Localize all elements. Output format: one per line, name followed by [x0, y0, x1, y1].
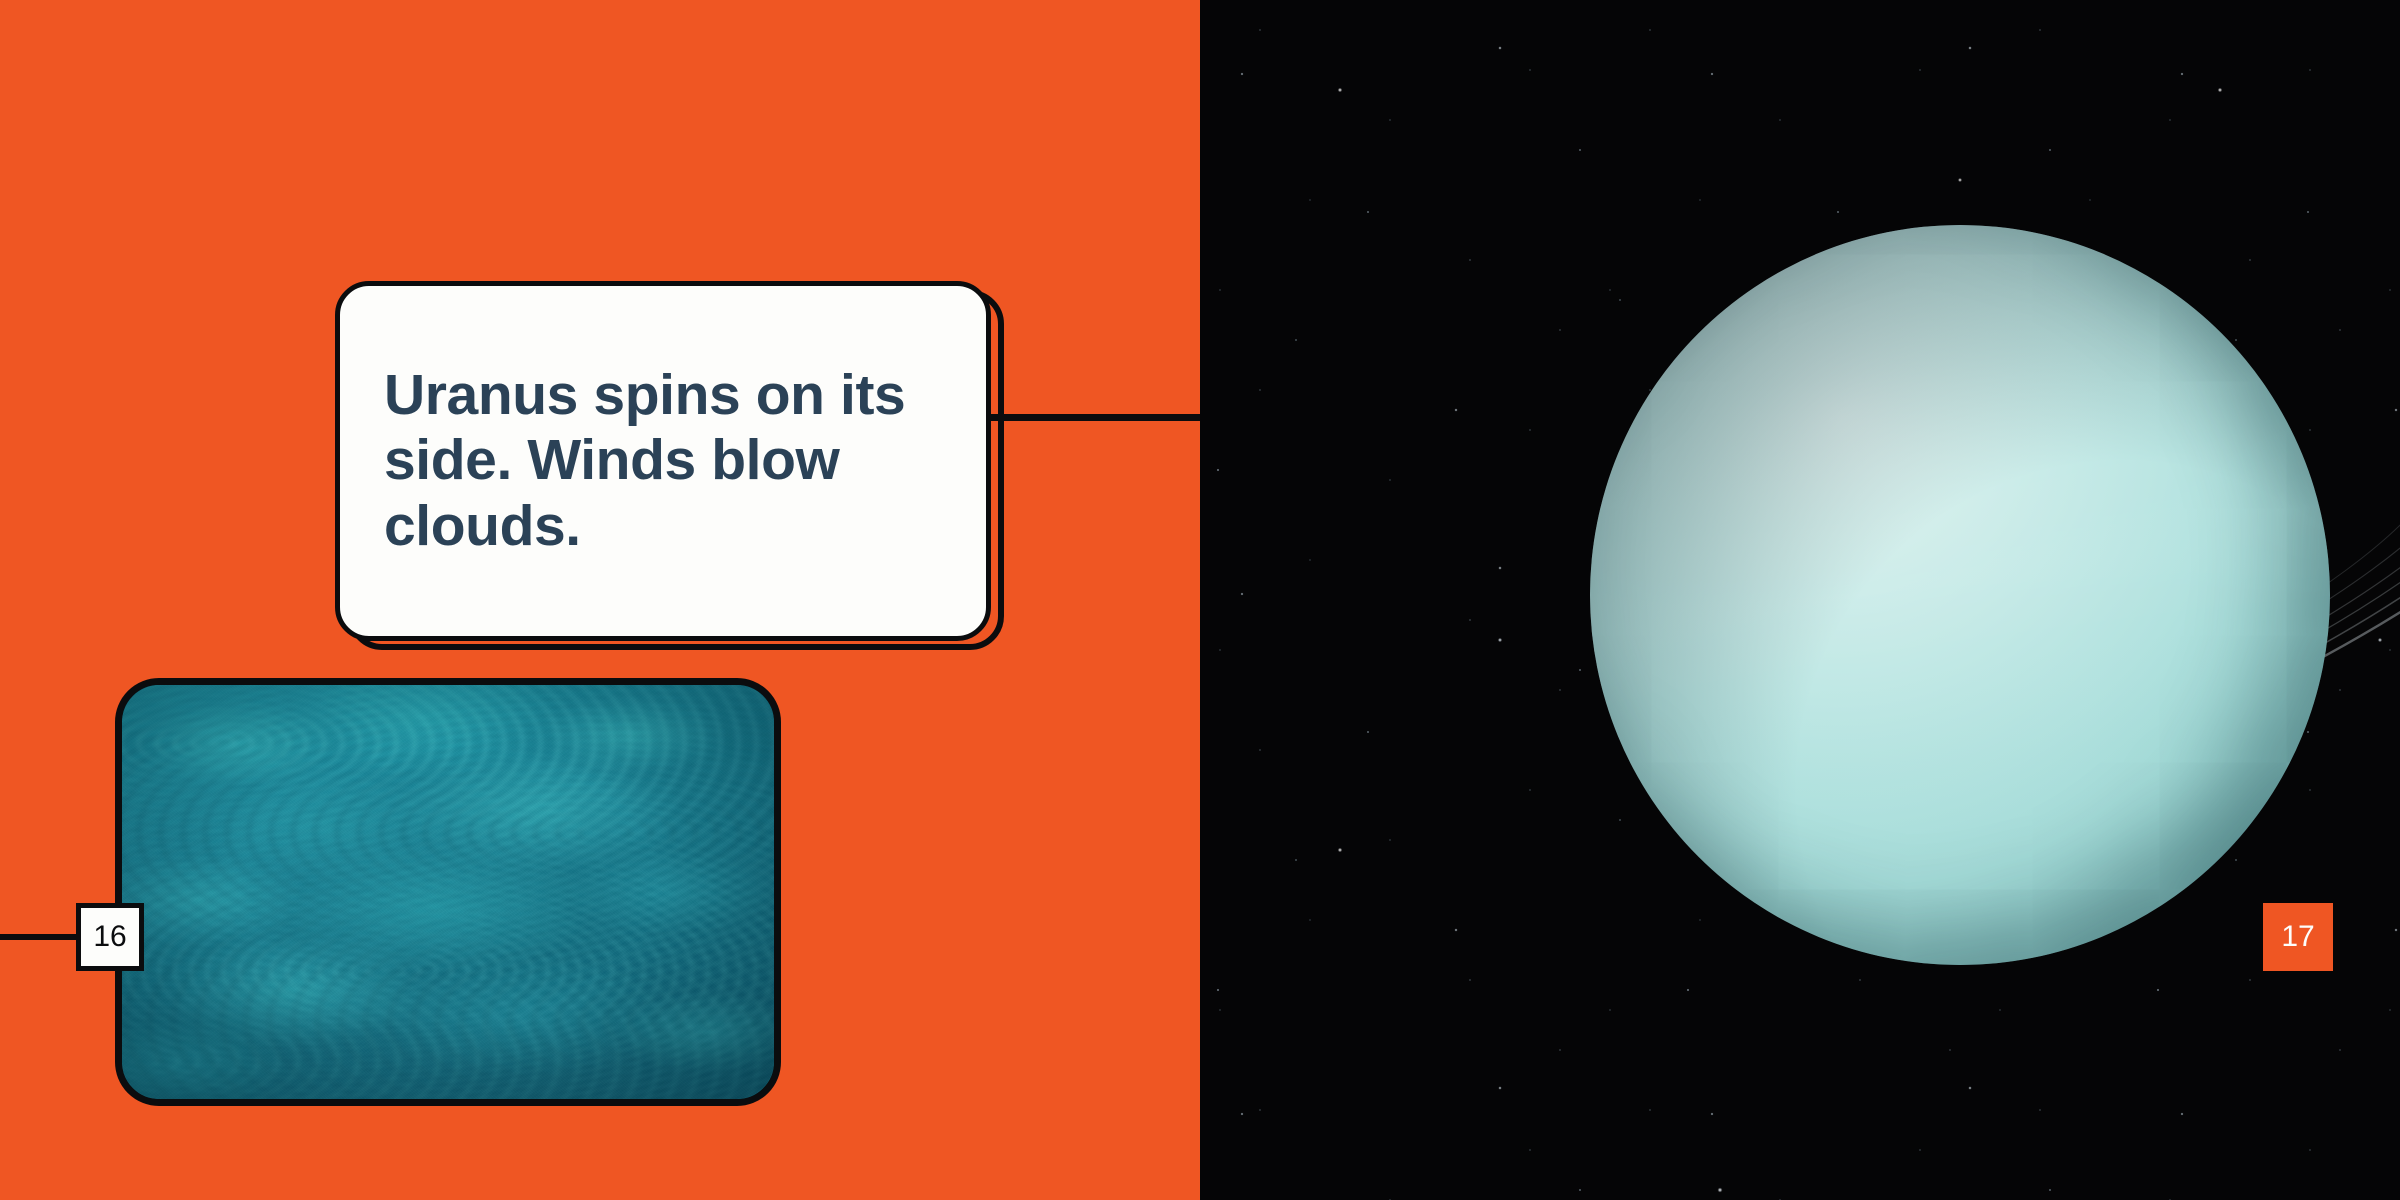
text-card: Uranus spins on its side. Winds blow clo…	[335, 281, 991, 641]
cloud-image	[122, 685, 774, 1099]
leader-line-from-text-card	[985, 414, 1200, 421]
planet-scene	[1200, 0, 2400, 1200]
right-page: 17	[1200, 0, 2400, 1200]
text-card-body: Uranus spins on its side. Winds blow clo…	[384, 363, 942, 560]
page-number-badge-right: 17	[2263, 903, 2333, 971]
cloud-image-panel	[115, 678, 781, 1106]
book-spread: Uranus spins on its side. Winds blow clo…	[0, 0, 2400, 1200]
left-page: Uranus spins on its side. Winds blow clo…	[0, 0, 1200, 1200]
planet-terminator-shading	[1590, 225, 2330, 965]
cloud-vignette	[122, 685, 774, 1099]
planet-uranus	[1590, 225, 2330, 965]
page-number-badge-left: 16	[76, 903, 144, 971]
leader-line-to-folio	[0, 934, 80, 940]
